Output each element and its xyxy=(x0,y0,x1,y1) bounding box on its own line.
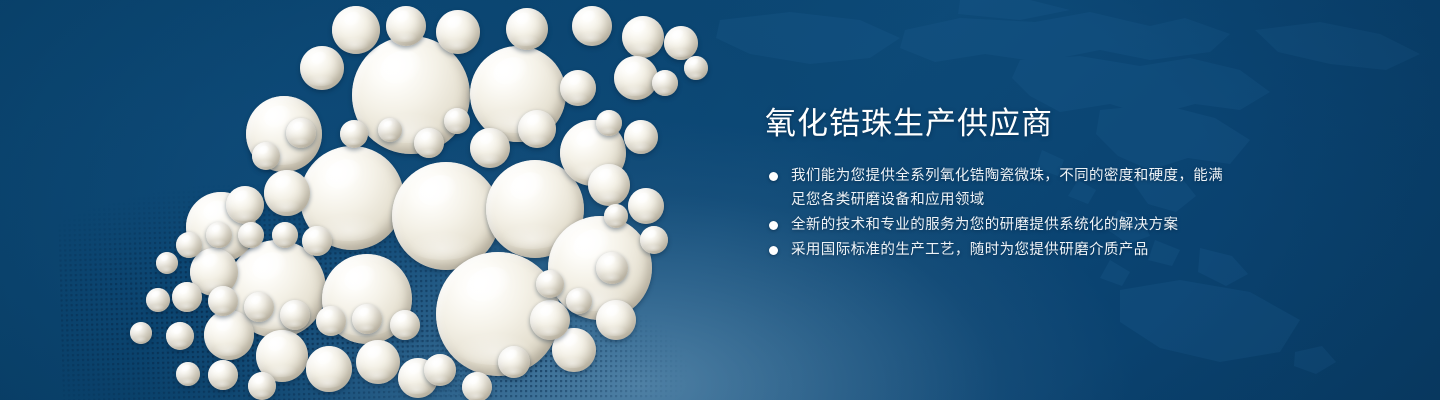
list-item-label: 采用国际标准的生产工艺，随时为您提供研磨介质产品 xyxy=(791,242,1149,258)
bullet-dot-icon xyxy=(769,172,778,181)
list-item-label: 全新的技术和专业的服务为您的研磨提供系统化的解决方案 xyxy=(791,217,1178,233)
page-title: 氧化锆珠生产供应商 xyxy=(765,104,1235,144)
list-item: 我们能为您提供全系列氧化锆陶瓷微珠，不同的密度和硬度，能满足您各类研磨设备和应用… xyxy=(765,164,1235,212)
bullet-dot-icon xyxy=(769,221,778,230)
feature-list: 我们能为您提供全系列氧化锆陶瓷微珠，不同的密度和硬度，能满足您各类研磨设备和应用… xyxy=(765,164,1235,262)
list-item-label: 我们能为您提供全系列氧化锆陶瓷微珠，不同的密度和硬度，能满足您各类研磨设备和应用… xyxy=(791,168,1223,208)
list-item: 全新的技术和专业的服务为您的研磨提供系统化的解决方案 xyxy=(765,213,1235,237)
list-item: 采用国际标准的生产工艺，随时为您提供研磨介质产品 xyxy=(765,238,1235,262)
hero-banner: 氧化锆珠生产供应商 我们能为您提供全系列氧化锆陶瓷微珠，不同的密度和硬度，能满足… xyxy=(0,0,1440,400)
bullet-dot-icon xyxy=(769,246,778,255)
banner-text-block: 氧化锆珠生产供应商 我们能为您提供全系列氧化锆陶瓷微珠，不同的密度和硬度，能满足… xyxy=(765,104,1235,263)
